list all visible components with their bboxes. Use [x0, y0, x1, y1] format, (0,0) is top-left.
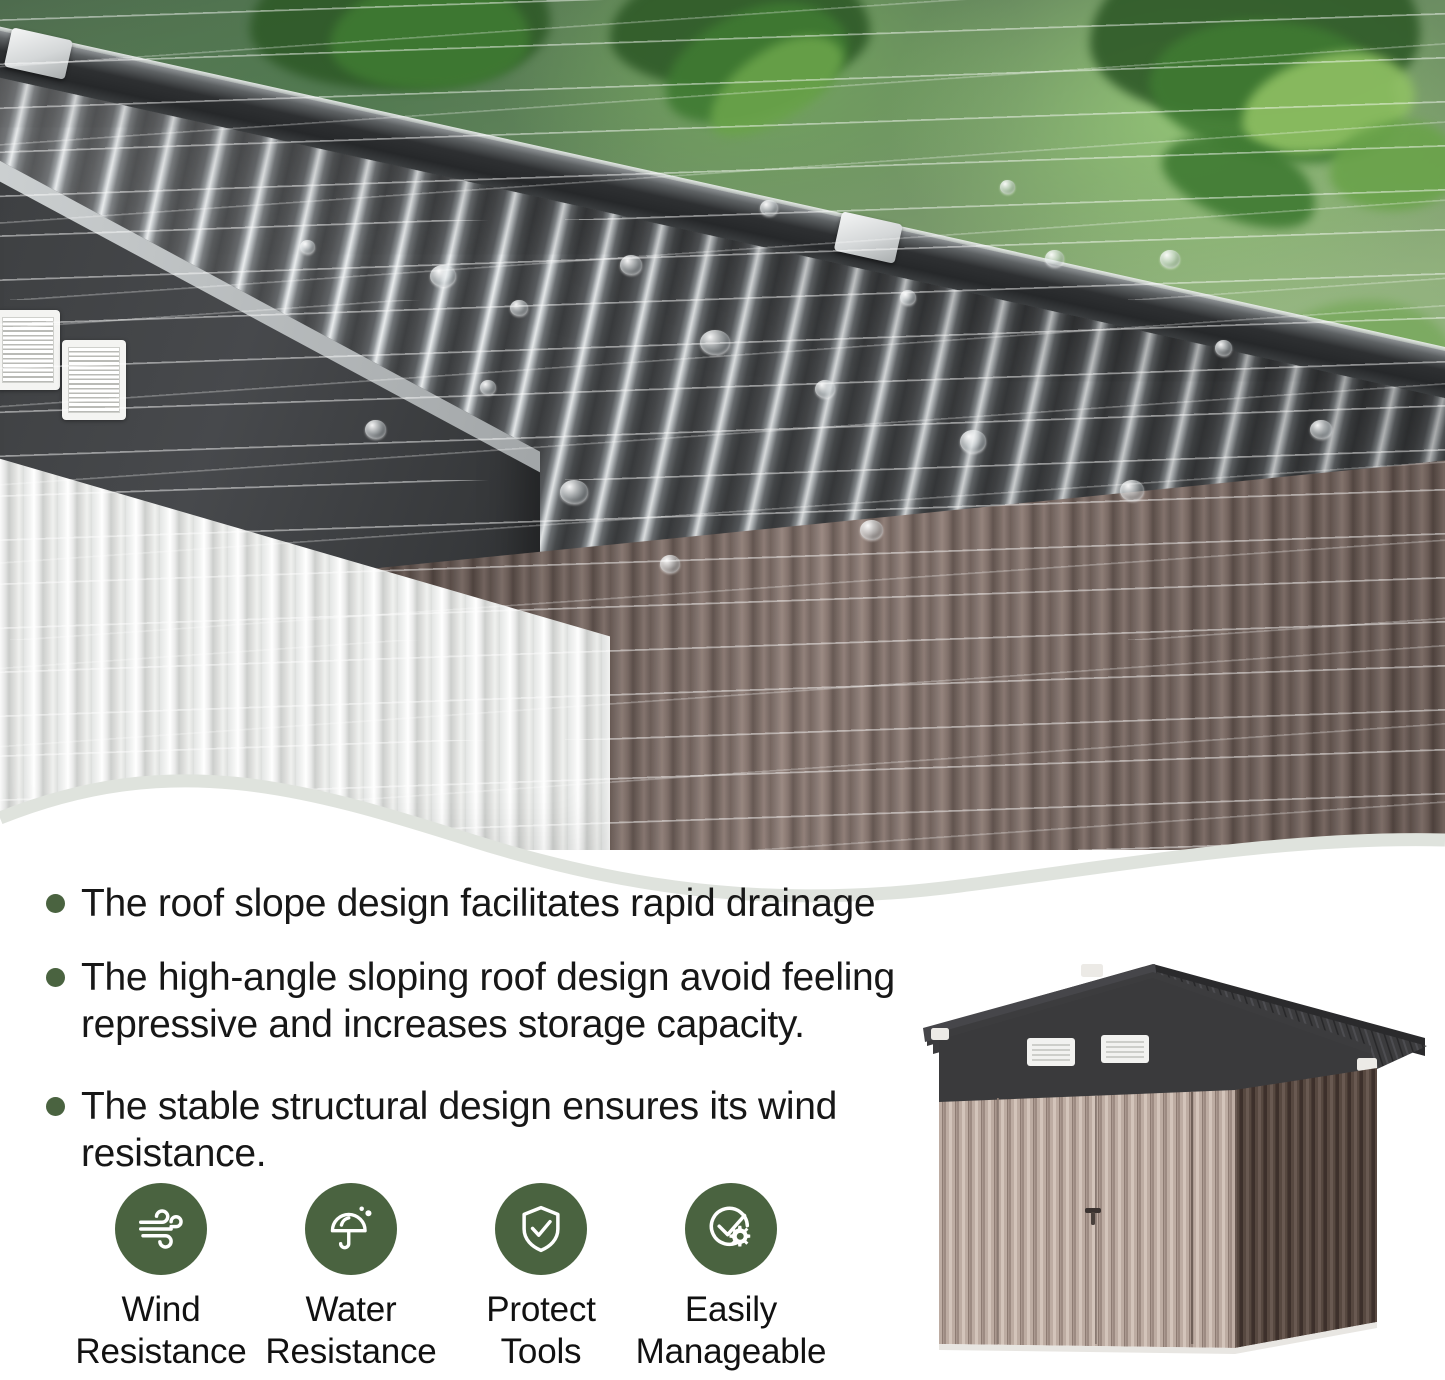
roof-vent [62, 340, 126, 420]
bullet-marker-icon [46, 1097, 65, 1116]
shed-vent [1101, 1035, 1149, 1063]
roof-vent [0, 310, 60, 390]
feature-icon-row: Wind Resistance Water Resistance [66, 1183, 826, 1373]
gear-center [737, 1233, 744, 1240]
shed-front-wall [939, 1090, 1235, 1348]
vent-slats [68, 347, 120, 413]
bullet-item: The high-angle sloping roof design avoid… [46, 954, 926, 1049]
content-area: The roof slope design facilitates rapid … [0, 855, 1445, 1380]
door-seam [997, 1098, 999, 1344]
feature-label: Water Resistance [265, 1289, 436, 1373]
feature-wind-resistance: Wind Resistance [66, 1183, 256, 1373]
shed-side-shade [1235, 1068, 1377, 1348]
product-shed-photo [905, 950, 1435, 1365]
feature-icon-badge [305, 1183, 397, 1275]
feature-label: Easily Manageable [636, 1289, 827, 1373]
door-seam [1191, 1092, 1193, 1344]
feature-icon-badge [685, 1183, 777, 1275]
feature-protect-tools: Protect Tools [446, 1183, 636, 1373]
bullet-marker-icon [46, 894, 65, 913]
feature-water-resistance: Water Resistance [256, 1183, 446, 1373]
feature-bullet-list: The roof slope design facilitates rapid … [46, 880, 926, 1204]
door-seam [1095, 1096, 1097, 1344]
raindrop [365, 1210, 371, 1216]
feature-icon-badge [115, 1183, 207, 1275]
bullet-item: The roof slope design facilitates rapid … [46, 880, 926, 928]
feature-label: Protect Tools [486, 1289, 595, 1373]
shield-check-icon [514, 1202, 568, 1256]
feature-label: Wind Resistance [75, 1289, 246, 1373]
product-marketing-image: The roof slope design facilitates rapid … [0, 0, 1445, 1380]
raindrop [359, 1207, 364, 1212]
feature-icon-badge [495, 1183, 587, 1275]
bullet-text: The roof slope design facilitates rapid … [81, 880, 875, 928]
bullet-text: The stable structural design ensures its… [81, 1083, 926, 1178]
vent-slats [2, 317, 54, 383]
shed-corner-cap [1081, 964, 1103, 977]
shed-vent [1027, 1038, 1075, 1066]
check-gear-icon [704, 1202, 758, 1256]
bullet-text: The high-angle sloping roof design avoid… [81, 954, 926, 1049]
shed-corner-cap [931, 1028, 949, 1040]
wind-icon [134, 1202, 188, 1256]
bullet-item: The stable structural design ensures its… [46, 1083, 926, 1178]
bullet-marker-icon [46, 968, 65, 987]
umbrella-rain-icon [324, 1202, 378, 1256]
feature-easily-manageable: Easily Manageable [636, 1183, 826, 1373]
